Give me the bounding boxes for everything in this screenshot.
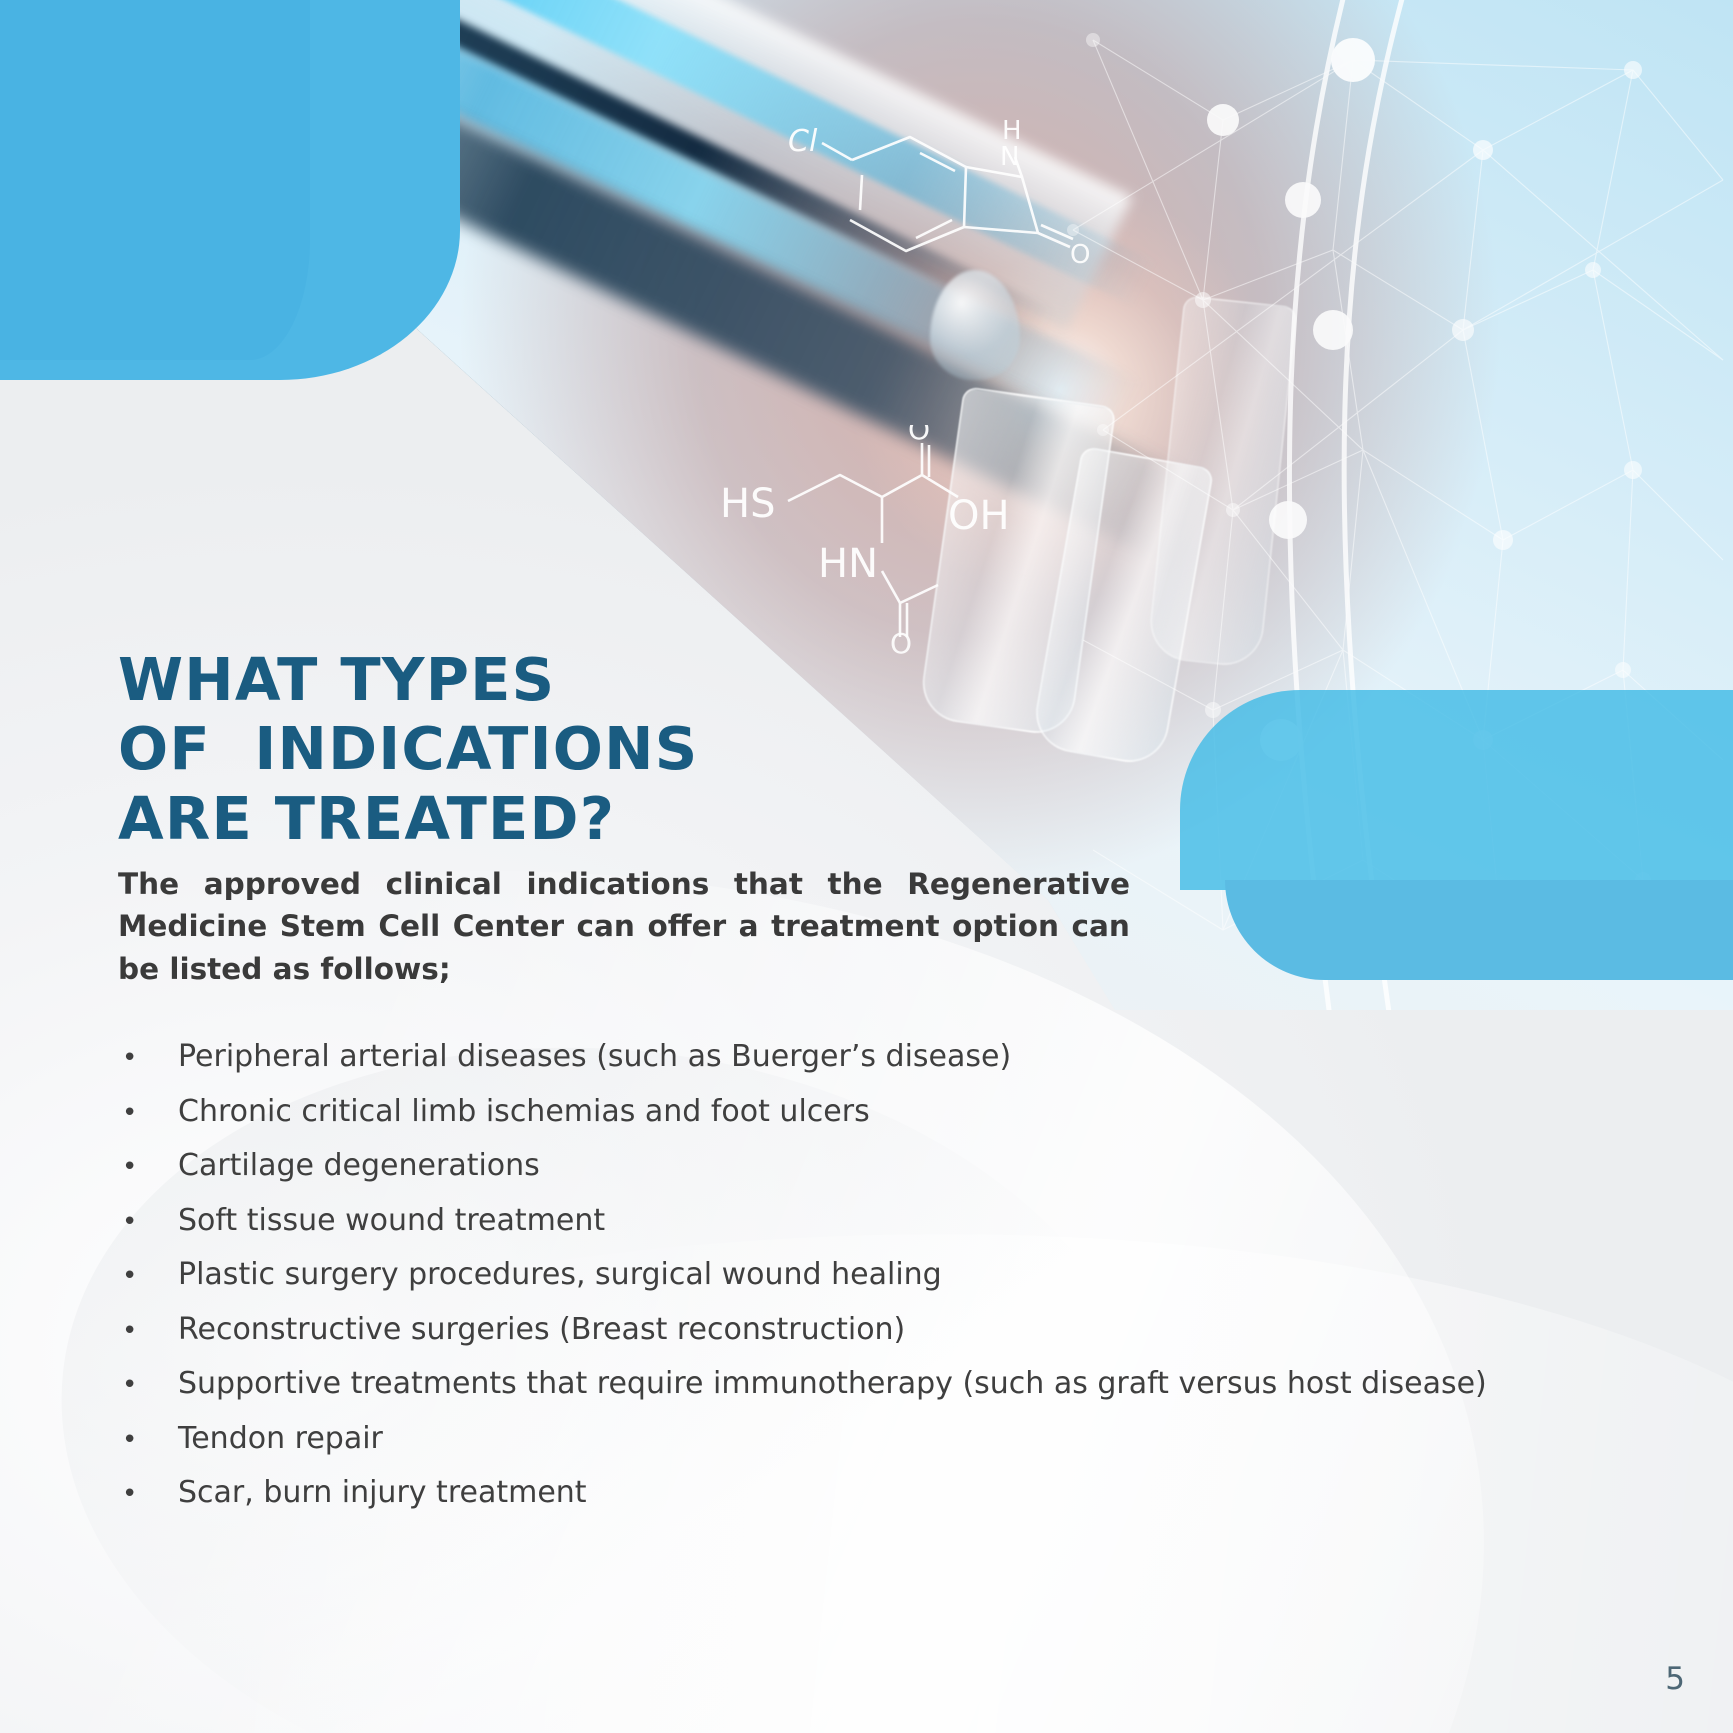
list-item-label: Supportive treatments that require immun… bbox=[178, 1357, 1487, 1412]
slide-content: WHAT TYPES OF INDICATIONS ARE TREATED? T… bbox=[0, 0, 1733, 1733]
list-item: • Soft tissue wound treatment bbox=[118, 1194, 1678, 1249]
list-item: • Cartilage degenerations bbox=[118, 1139, 1678, 1194]
lead-paragraph: The approved clinical indications that t… bbox=[118, 863, 1130, 990]
list-item-label: Reconstructive surgeries (Breast reconst… bbox=[178, 1303, 905, 1358]
bullet-icon: • bbox=[118, 1031, 178, 1086]
list-item-label: Plastic surgery procedures, surgical wou… bbox=[178, 1248, 942, 1303]
page-title-line-2: OF INDICATIONS bbox=[118, 714, 698, 784]
list-item-label: Scar, burn injury treatment bbox=[178, 1466, 587, 1521]
bullet-icon: • bbox=[118, 1086, 178, 1141]
lead-word: The bbox=[118, 863, 179, 905]
list-item-label: Peripheral arterial diseases (such as Bu… bbox=[178, 1030, 1011, 1085]
lead-word: Stem bbox=[280, 905, 366, 947]
lead-paragraph-line-3: be listed as follows; bbox=[118, 948, 1130, 990]
list-item: • Supportive treatments that require imm… bbox=[118, 1357, 1678, 1412]
lead-paragraph-line-1: The approved clinical indications that t… bbox=[118, 863, 1130, 905]
bullet-icon: • bbox=[118, 1249, 178, 1304]
lead-word: the bbox=[828, 863, 883, 905]
page-number: 5 bbox=[1665, 1661, 1685, 1697]
list-item: • Reconstructive surgeries (Breast recon… bbox=[118, 1303, 1678, 1358]
lead-word: treatment bbox=[771, 905, 940, 947]
lead-word: can bbox=[577, 905, 635, 947]
bullet-icon: • bbox=[118, 1140, 178, 1195]
lead-word: approved bbox=[204, 863, 361, 905]
lead-word: indications bbox=[526, 863, 709, 905]
list-item: • Peripheral arterial diseases (such as … bbox=[118, 1030, 1678, 1085]
list-item-label: Cartilage degenerations bbox=[178, 1139, 540, 1194]
list-item: • Chronic critical limb ischemias and fo… bbox=[118, 1085, 1678, 1140]
lead-word: clinical bbox=[386, 863, 502, 905]
page-title-line-3: ARE TREATED? bbox=[118, 784, 698, 854]
list-item-label: Tendon repair bbox=[178, 1412, 383, 1467]
bullet-icon: • bbox=[118, 1467, 178, 1522]
lead-word: option bbox=[952, 905, 1059, 947]
lead-word: Cell bbox=[378, 905, 440, 947]
list-item-label: Soft tissue wound treatment bbox=[178, 1194, 605, 1249]
bullet-icon: • bbox=[118, 1413, 178, 1468]
lead-word: that bbox=[734, 863, 803, 905]
lead-word: Center bbox=[453, 905, 564, 947]
indications-list: • Peripheral arterial diseases (such as … bbox=[118, 1030, 1678, 1521]
bullet-icon: • bbox=[118, 1304, 178, 1359]
bullet-icon: • bbox=[118, 1195, 178, 1250]
list-item: • Scar, burn injury treatment bbox=[118, 1466, 1678, 1521]
lead-word: a bbox=[739, 905, 759, 947]
bullet-icon: • bbox=[118, 1358, 178, 1413]
list-item: • Plastic surgery procedures, surgical w… bbox=[118, 1248, 1678, 1303]
page-title: WHAT TYPES OF INDICATIONS ARE TREATED? bbox=[118, 645, 698, 854]
lead-word: can bbox=[1072, 905, 1130, 947]
lead-word: Regenerative bbox=[907, 863, 1130, 905]
list-item-label: Chronic critical limb ischemias and foot… bbox=[178, 1085, 870, 1140]
lead-word: Medicine bbox=[118, 905, 267, 947]
lead-word: offer bbox=[647, 905, 726, 947]
page-title-line-1: WHAT TYPES bbox=[118, 645, 698, 715]
slide-canvas: Cl H N O HS O OH HN O bbox=[0, 0, 1733, 1733]
list-item: • Tendon repair bbox=[118, 1412, 1678, 1467]
lead-paragraph-line-2: Medicine Stem Cell Center can offer a tr… bbox=[118, 905, 1130, 947]
